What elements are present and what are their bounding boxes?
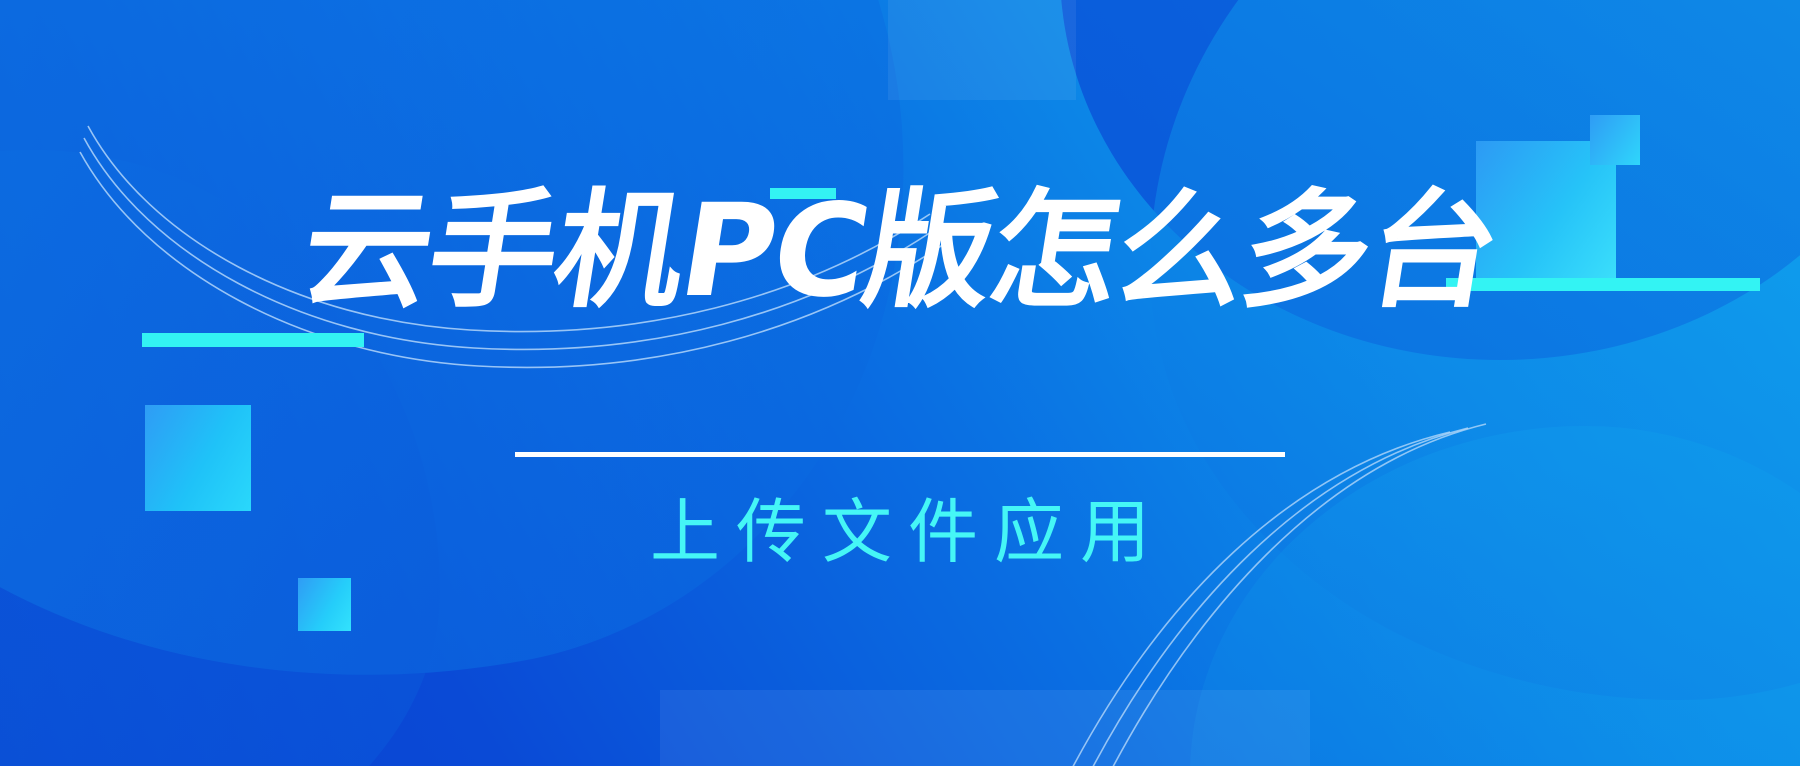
title-container: 云手机PC版怎么多台 (0, 188, 1800, 316)
cyan-accent-bar-above-c (770, 188, 836, 199)
cyan-accent-bar-left (142, 333, 364, 347)
banner-title: 云手机PC版怎么多台 (294, 188, 1506, 316)
organic-blob-right (1150, 0, 1800, 700)
gradient-square-left-small (298, 578, 351, 631)
organic-blob-top-dark (1060, 0, 1800, 360)
banner-subtitle: 上传文件应用 (634, 497, 1166, 567)
promo-banner: 云手机PC版怎么多台 上传文件应用 (0, 0, 1800, 766)
thin-curve-lines-left (80, 126, 950, 367)
subtitle-container: 上传文件应用 (0, 497, 1800, 567)
thin-curve-lines-right (1068, 424, 1486, 766)
gradient-square-left-large (145, 405, 251, 511)
organic-blob-left-lower (0, 150, 440, 766)
translucent-rect-top (888, 0, 1076, 100)
gradient-square-right-large (1476, 141, 1616, 289)
organic-blob-left (0, 0, 985, 766)
translucent-rect-bottom (660, 690, 1310, 766)
cyan-accent-bar-right (1446, 278, 1760, 291)
curve-lines-group (0, 0, 1800, 766)
organic-blob-right-lower (1190, 426, 1800, 766)
white-divider (515, 452, 1285, 457)
gradient-square-right-small (1590, 115, 1640, 165)
